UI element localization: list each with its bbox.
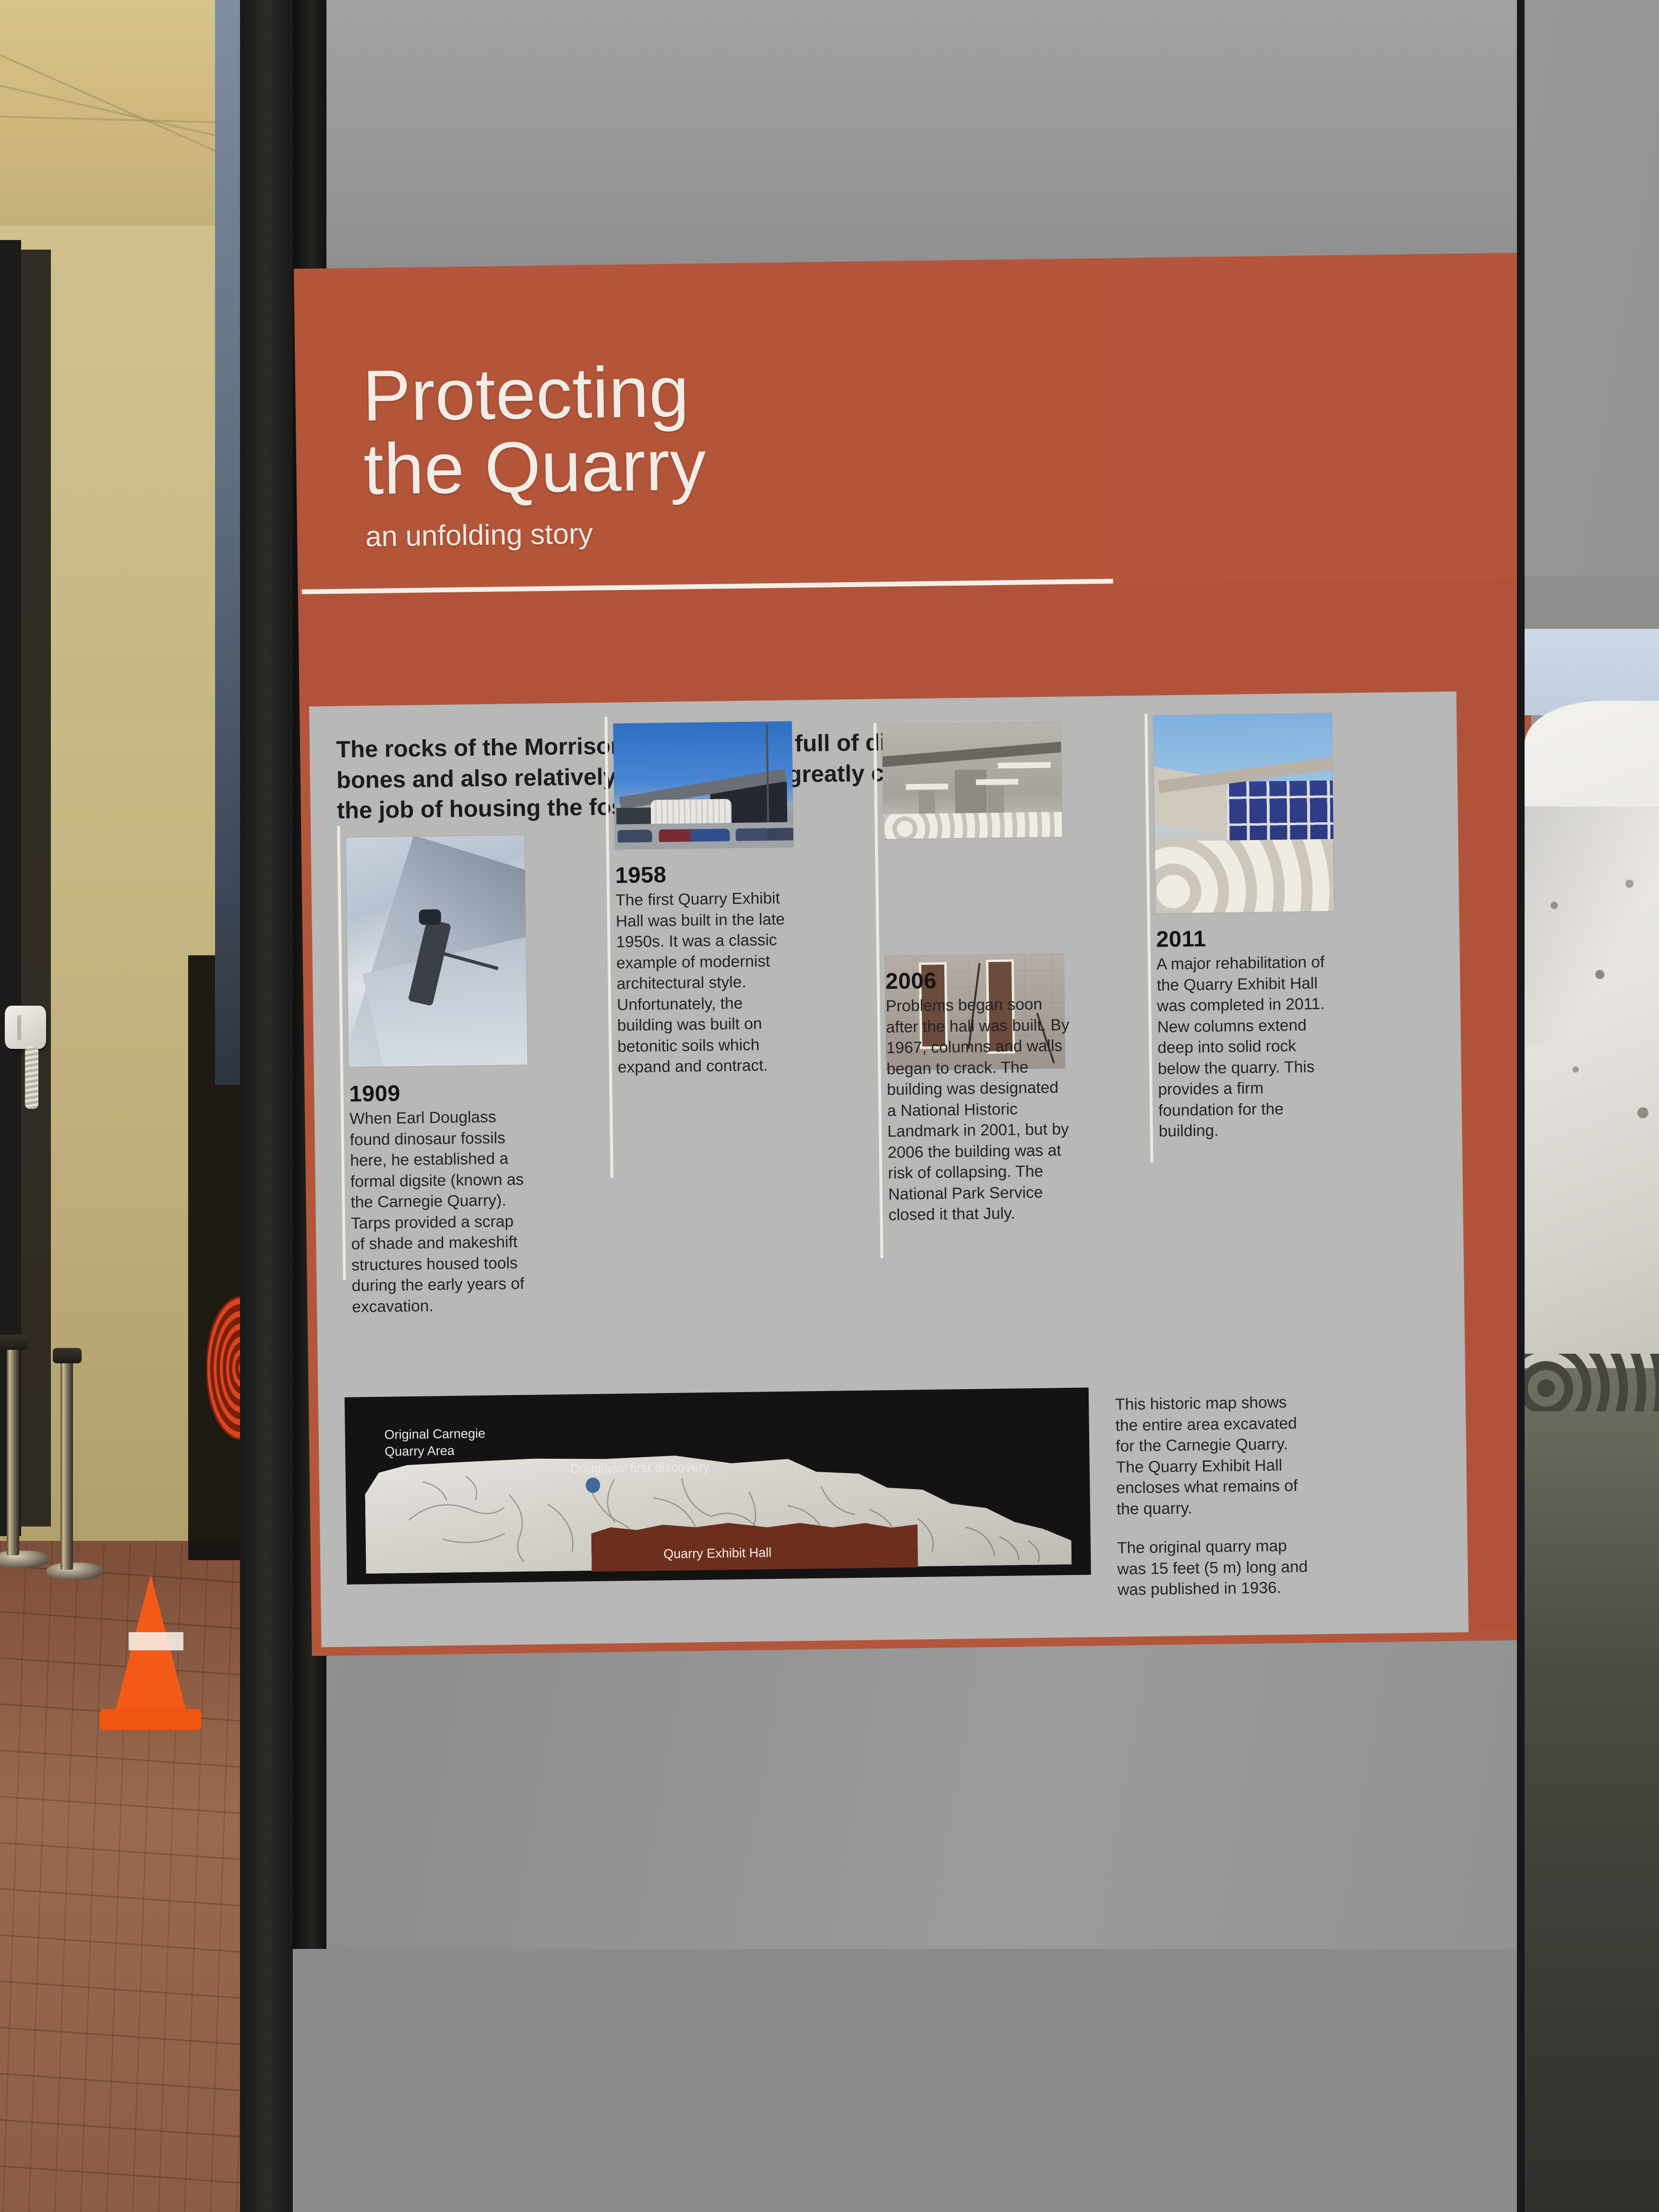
panel-right-seam [1517,0,1525,2212]
timeline-item-2006: 2006 Problems began soon after the hall … [873,716,1068,947]
excavator-head [419,909,441,925]
caption-1909: 1909 When Earl Douglass found dinosaur f… [349,1078,530,1318]
stanchion-base [46,1563,104,1580]
mural-top-gray [1525,576,1659,631]
photo-1909 [346,835,528,1067]
timeline-body-1909: When Earl Douglass found dinosaur fossil… [349,1106,531,1318]
column-cap [976,779,1018,785]
traffic-cone-stripe [129,1632,183,1650]
quarry-map-panel: Original Carnegie Quarry Area Douglass' … [345,1388,1091,1585]
map-label-quarry-area-line2: Quarry Area [385,1442,486,1460]
title-line-2: the Quarry [363,424,1036,506]
mural-desert-brush [1525,1368,1659,2212]
wall-top-gray [326,0,1517,269]
map-caption-paragraph-1: This historic map shows the entire area … [1115,1392,1309,1520]
timeline-body-2011: A major rehabilitation of the Quarry Exh… [1156,952,1342,1142]
excavator-figure [408,919,452,1006]
timeline-item-1909: 1909 When Earl Douglass found dinosaur f… [337,824,527,1056]
stanchion-post [7,1344,19,1555]
column-cap [906,783,948,790]
timeline-year-1909: 1909 [349,1078,528,1107]
caption-2006: 2006 Problems began soon after the hall … [885,965,1072,1226]
photo-2006-roof-damage [882,722,1062,839]
map-caption: This historic map shows the entire area … [1115,1392,1310,1619]
timeline-year-1958: 1958 [615,859,794,888]
panel-header: Protecting the Quarry an unfolding story [294,268,1111,586]
phone-cord [25,1046,38,1109]
panel-content-card: The rocks of the Morrison Formation are … [309,691,1468,1647]
stanchion-post [60,1358,73,1570]
map-caption-paragraph-2: The original quarry map was 15 feet (5 m… [1117,1536,1310,1601]
timeline-year-2011: 2011 [1156,924,1340,952]
title-line-1: Protecting [362,350,1035,433]
photo-1958 [613,721,793,850]
traffic-cone-base [100,1709,202,1730]
rock-ridge-mural [1525,629,1659,2212]
timeline-rule [873,723,883,1258]
stanchion-head [0,1334,28,1350]
parked-car [617,829,652,842]
map-label-quarry-area-line1: Original Carnegie [385,1425,486,1443]
map-label-exhibit-hall: Quarry Exhibit Hall [663,1545,771,1562]
boulder-field [1155,839,1334,914]
exhibit-panel: Protecting the Quarry an unfolding story… [294,253,1540,1978]
timeline-rule [1144,714,1153,1163]
photo-2011 [1153,713,1334,914]
timeline-rule [604,717,613,1178]
map-label-first-discovery: Douglass' first discovery [570,1459,710,1478]
panel-red-band [298,578,1531,709]
stanchion-head [53,1348,82,1363]
timeline-year-2006: 2006 [885,965,1069,994]
parked-car [766,828,793,841]
map-label-quarry-area: Original Carnegie Quarry Area [385,1425,486,1460]
parked-car [690,829,730,842]
timeline-body-1958: The first Quarry Exhibit Hall was built … [615,888,796,1078]
mural-rock-speckle [1525,845,1659,1277]
page-subtitle: an unfolding story [365,517,593,553]
timeline-item-1958: 1958 The first Quarry Exhibit Hall was b… [604,710,793,838]
wall-below-panel [293,1949,1517,2212]
column-cap [998,762,1051,768]
parked-car [735,828,770,841]
exhibit-panel-photograph: Protecting the Quarry an unfolding story… [0,0,1659,2212]
timeline-item-2011: 2011 A major rehabilitation of the Quarr… [1144,707,1339,907]
timeline-rule [337,826,346,1280]
caption-2011: 2011 A major rehabilitation of the Quarr… [1156,924,1342,1142]
timeline-body-2006: Problems began soon after the hall was b… [886,994,1072,1226]
wall-phone-icon [5,1006,46,1049]
excavator-tool [438,951,498,970]
page-title: Protecting the Quarry [362,350,1036,506]
rubble-ground [883,812,1062,839]
caption-1958: 1958 The first Quarry Exhibit Hall was b… [615,859,796,1078]
